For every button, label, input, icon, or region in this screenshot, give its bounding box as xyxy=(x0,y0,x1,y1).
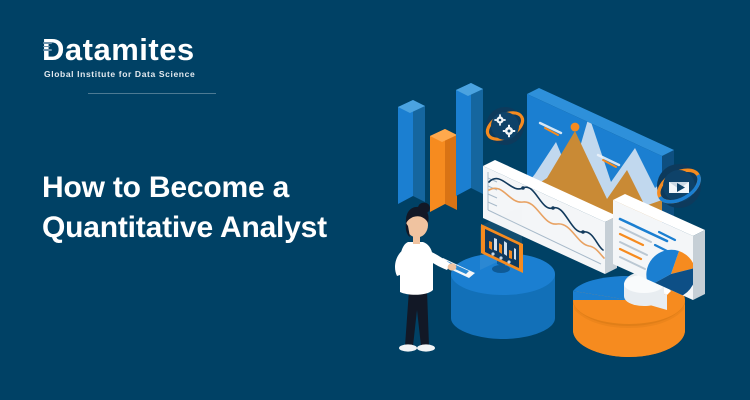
bar-3 xyxy=(456,83,483,196)
gears-badge-icon xyxy=(483,107,527,145)
page-title: How to Become a Quantitative Analyst xyxy=(42,168,372,248)
logo-initial-d: D xyxy=(42,33,65,66)
analyst-figure xyxy=(395,203,456,352)
logo-wordmark-rest: atamites xyxy=(65,32,195,67)
brand-logo[interactable]: Datamites Global Institute for Data Scie… xyxy=(42,33,217,81)
logo-tagline: Global Institute for Data Science xyxy=(42,69,217,79)
bar-chart-3d xyxy=(398,83,483,212)
bar-1 xyxy=(398,100,425,204)
logo-divider xyxy=(88,93,216,94)
page-title-line-1: How to Become a xyxy=(42,168,372,208)
logo-wordmark: Datamites xyxy=(42,33,217,66)
illustration xyxy=(375,78,750,400)
page-title-line-2: Quantitative Analyst xyxy=(42,208,372,248)
bar-2 xyxy=(430,129,457,212)
banner: Datamites Global Institute for Data Scie… xyxy=(0,0,750,400)
